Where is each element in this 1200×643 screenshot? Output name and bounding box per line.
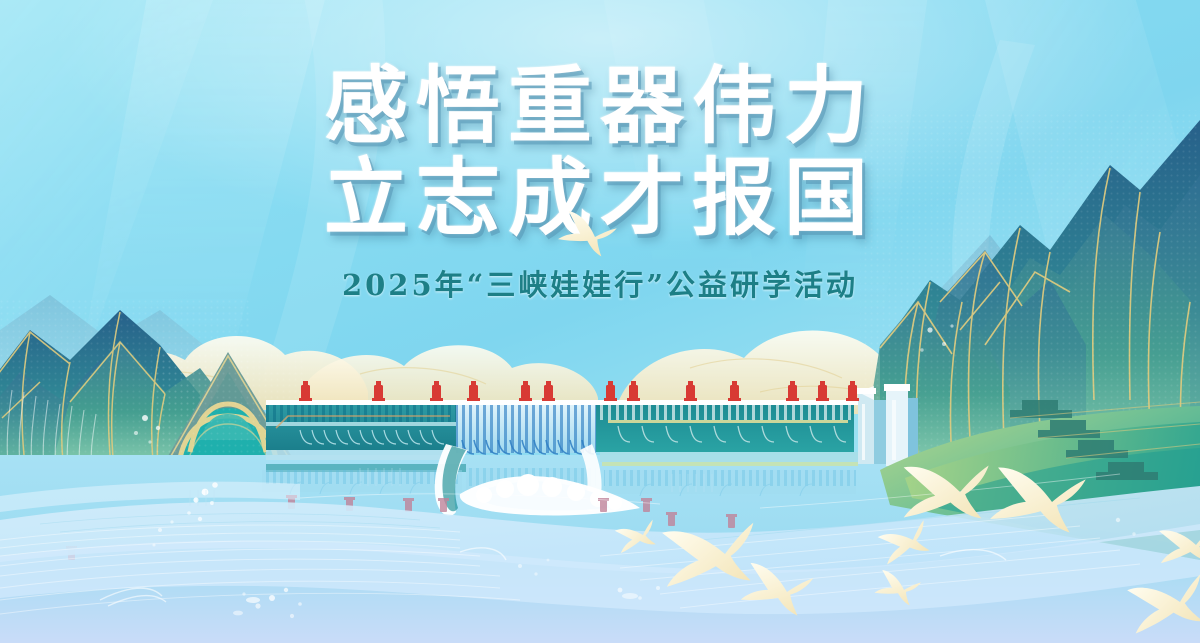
campaign-banner: 感悟重器伟力 立志成才报国 2025年“三峡娃娃行”公益研学活动 [0, 0, 1200, 643]
banner-title-line-1: 感悟重器伟力 [0, 60, 1200, 152]
banner-title-line-2: 立志成才报国 [0, 152, 1200, 244]
banner-text-block: 感悟重器伟力 立志成才报国 2025年“三峡娃娃行”公益研学活动 [0, 60, 1200, 304]
banner-subtitle: 2025年“三峡娃娃行”公益研学活动 [0, 262, 1200, 304]
